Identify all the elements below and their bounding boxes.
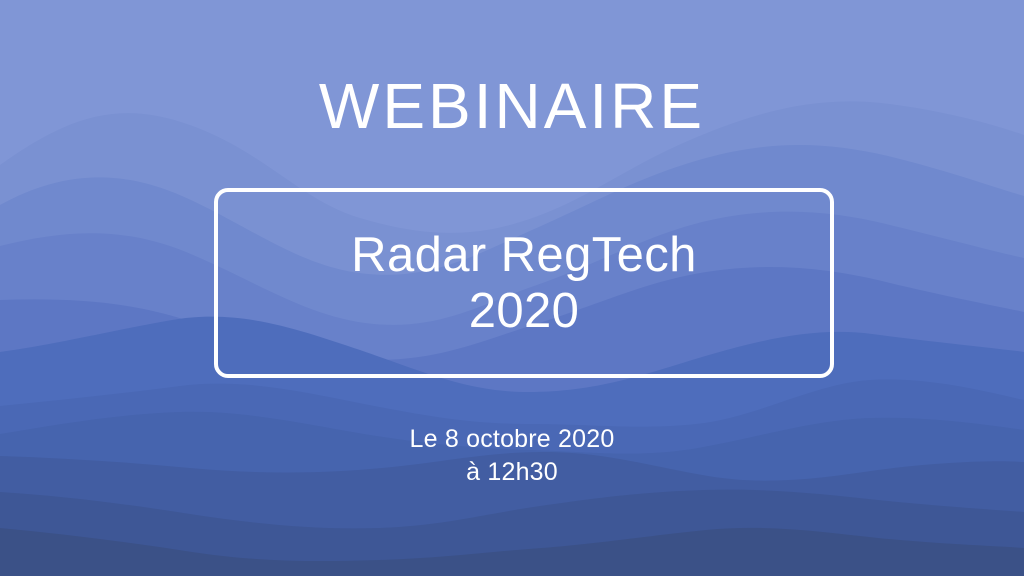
title-frame: Radar RegTech 2020: [214, 188, 834, 378]
webinar-title-line-1: Radar RegTech: [351, 228, 697, 282]
poster-content: WEBINAIRE Radar RegTech 2020 Le 8 octobr…: [0, 0, 1024, 576]
webinar-title-line-2: 2020: [351, 283, 697, 339]
event-date: Le 8 octobre 2020: [410, 425, 615, 453]
page-title: WEBINAIRE: [0, 74, 1024, 138]
webinar-poster: WEBINAIRE Radar RegTech 2020 Le 8 octobr…: [0, 0, 1024, 576]
event-time: à 12h30: [0, 456, 1024, 489]
event-datetime: Le 8 octobre 2020 à 12h30: [0, 423, 1024, 488]
webinar-title: Radar RegTech 2020: [351, 227, 697, 340]
